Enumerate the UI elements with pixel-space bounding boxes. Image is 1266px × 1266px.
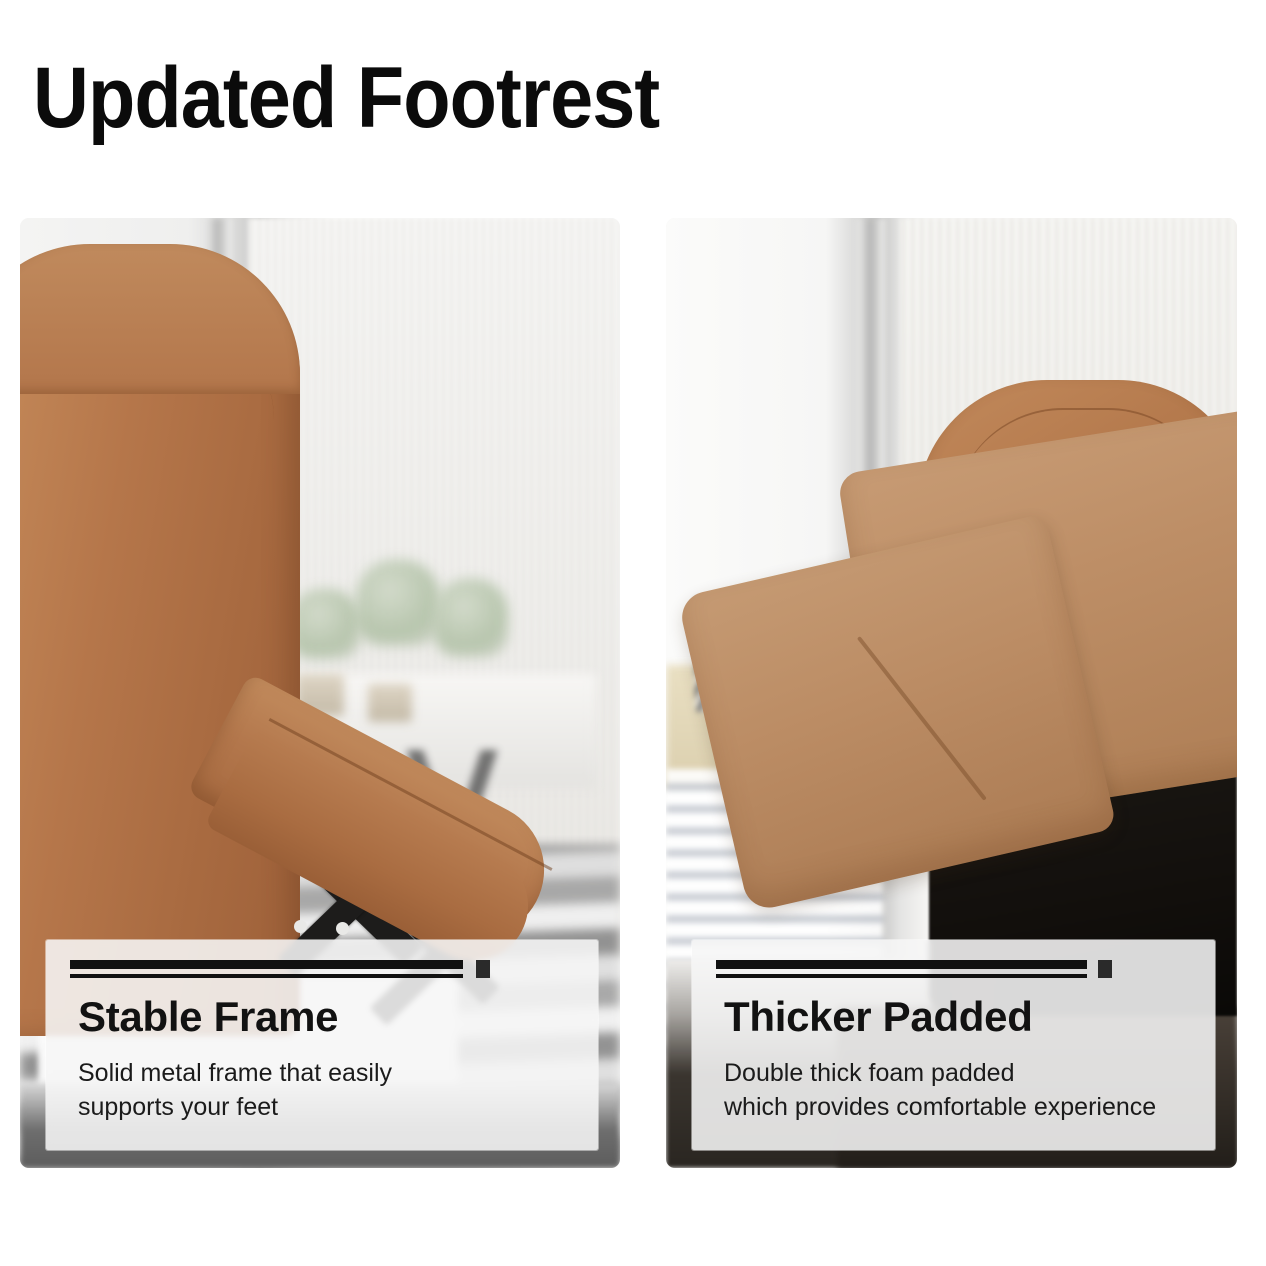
- accent-rule: [70, 960, 574, 982]
- caption-body-line: Solid metal frame that easily: [78, 1056, 574, 1090]
- blurred-plant: [356, 560, 440, 646]
- accent-thin-bar: [70, 974, 463, 978]
- blurred-plant: [290, 589, 360, 659]
- feature-panel-stable-frame: Stable Frame Solid metal frame that easi…: [20, 218, 620, 1168]
- accent-square-block: [476, 960, 490, 978]
- caption-heading: Stable Frame: [78, 992, 574, 1042]
- accent-square-block: [1098, 960, 1112, 978]
- feature-panel-thicker-padded: Thicker Padded Double thick foam padded …: [666, 218, 1237, 1168]
- caption-body: Solid metal frame that easily supports y…: [78, 1056, 574, 1124]
- caption-card-thicker-padded: Thicker Padded Double thick foam padded …: [692, 940, 1215, 1150]
- accent-thin-bar: [716, 974, 1087, 978]
- plant-pot: [368, 684, 412, 722]
- accent-rule: [716, 960, 1191, 982]
- frame-hole: [336, 922, 349, 935]
- accent-thick-bar: [716, 960, 1087, 969]
- caption-body-line: Double thick foam padded: [724, 1056, 1191, 1090]
- caption-card-stable-frame: Stable Frame Solid metal frame that easi…: [46, 940, 598, 1150]
- blurred-plant: [434, 579, 508, 657]
- caption-body: Double thick foam padded which provides …: [724, 1056, 1191, 1124]
- feature-panels: Stable Frame Solid metal frame that easi…: [0, 218, 1266, 1178]
- accent-thick-bar: [70, 960, 463, 969]
- page-title: Updated Footrest: [33, 50, 659, 146]
- caption-body-line: which provides comfortable experience: [724, 1090, 1191, 1124]
- caption-heading: Thicker Padded: [724, 992, 1191, 1042]
- frame-hole: [294, 920, 307, 933]
- caption-body-line: supports your feet: [78, 1090, 574, 1124]
